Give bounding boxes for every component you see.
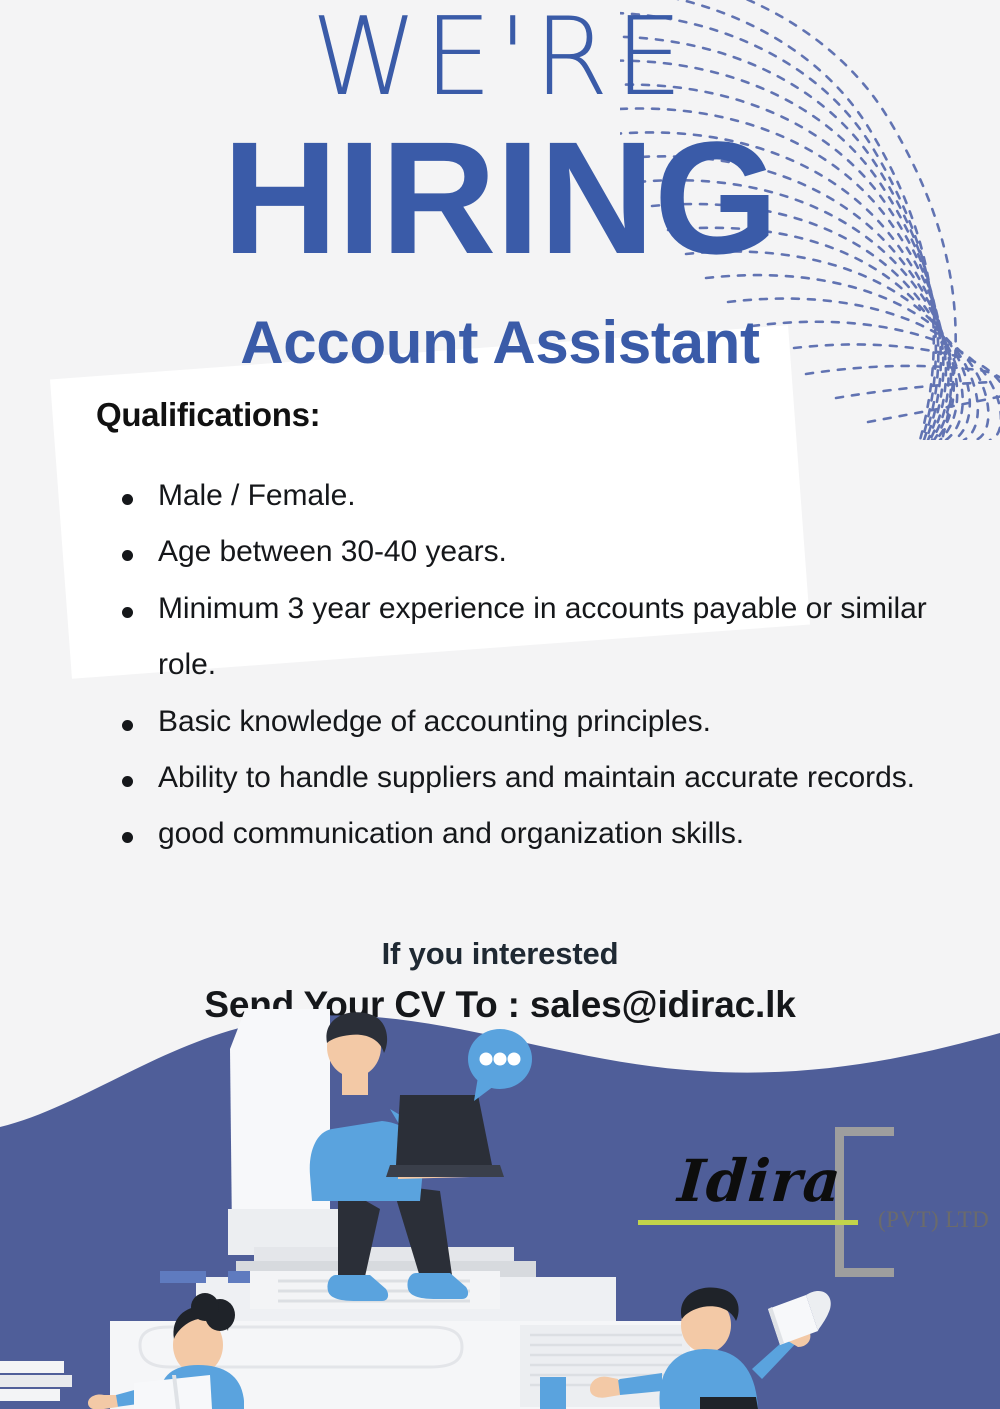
list-item: Ability to handle suppliers and maintain… [96, 750, 976, 806]
list-item: good communication and organization skil… [96, 806, 976, 862]
job-title: Account Assistant [0, 308, 1000, 377]
poster-header: WE'RE HIRING Account Assistant [0, 0, 1000, 377]
list-item: Basic knowledge of accounting principles… [96, 694, 976, 750]
logo-underline [638, 1220, 858, 1225]
contact-prompt: If you interested [0, 936, 1000, 972]
logo-suffix: (PVT) LTD [878, 1207, 989, 1233]
qualifications-heading: Qualifications: [96, 396, 976, 434]
qualifications-block: Qualifications: Male / Female. Age betwe… [96, 396, 976, 863]
list-item: Age between 30-40 years. [96, 524, 976, 580]
logo-wordmark: Idira [676, 1147, 844, 1215]
company-logo: Idira (PVT) LTD [650, 1125, 990, 1275]
list-item: Minimum 3 year experience in accounts pa… [96, 581, 976, 694]
qualifications-list: Male / Female. Age between 30-40 years. … [96, 468, 976, 863]
list-item: Male / Female. [96, 468, 976, 524]
white-chair-back [230, 1009, 330, 1235]
job-poster: WE'RE HIRING Account Assistant Qualifica… [0, 0, 1000, 1409]
eyebrow-text: WE'RE [0, 6, 1000, 110]
headline-text: HIRING [0, 134, 1000, 262]
